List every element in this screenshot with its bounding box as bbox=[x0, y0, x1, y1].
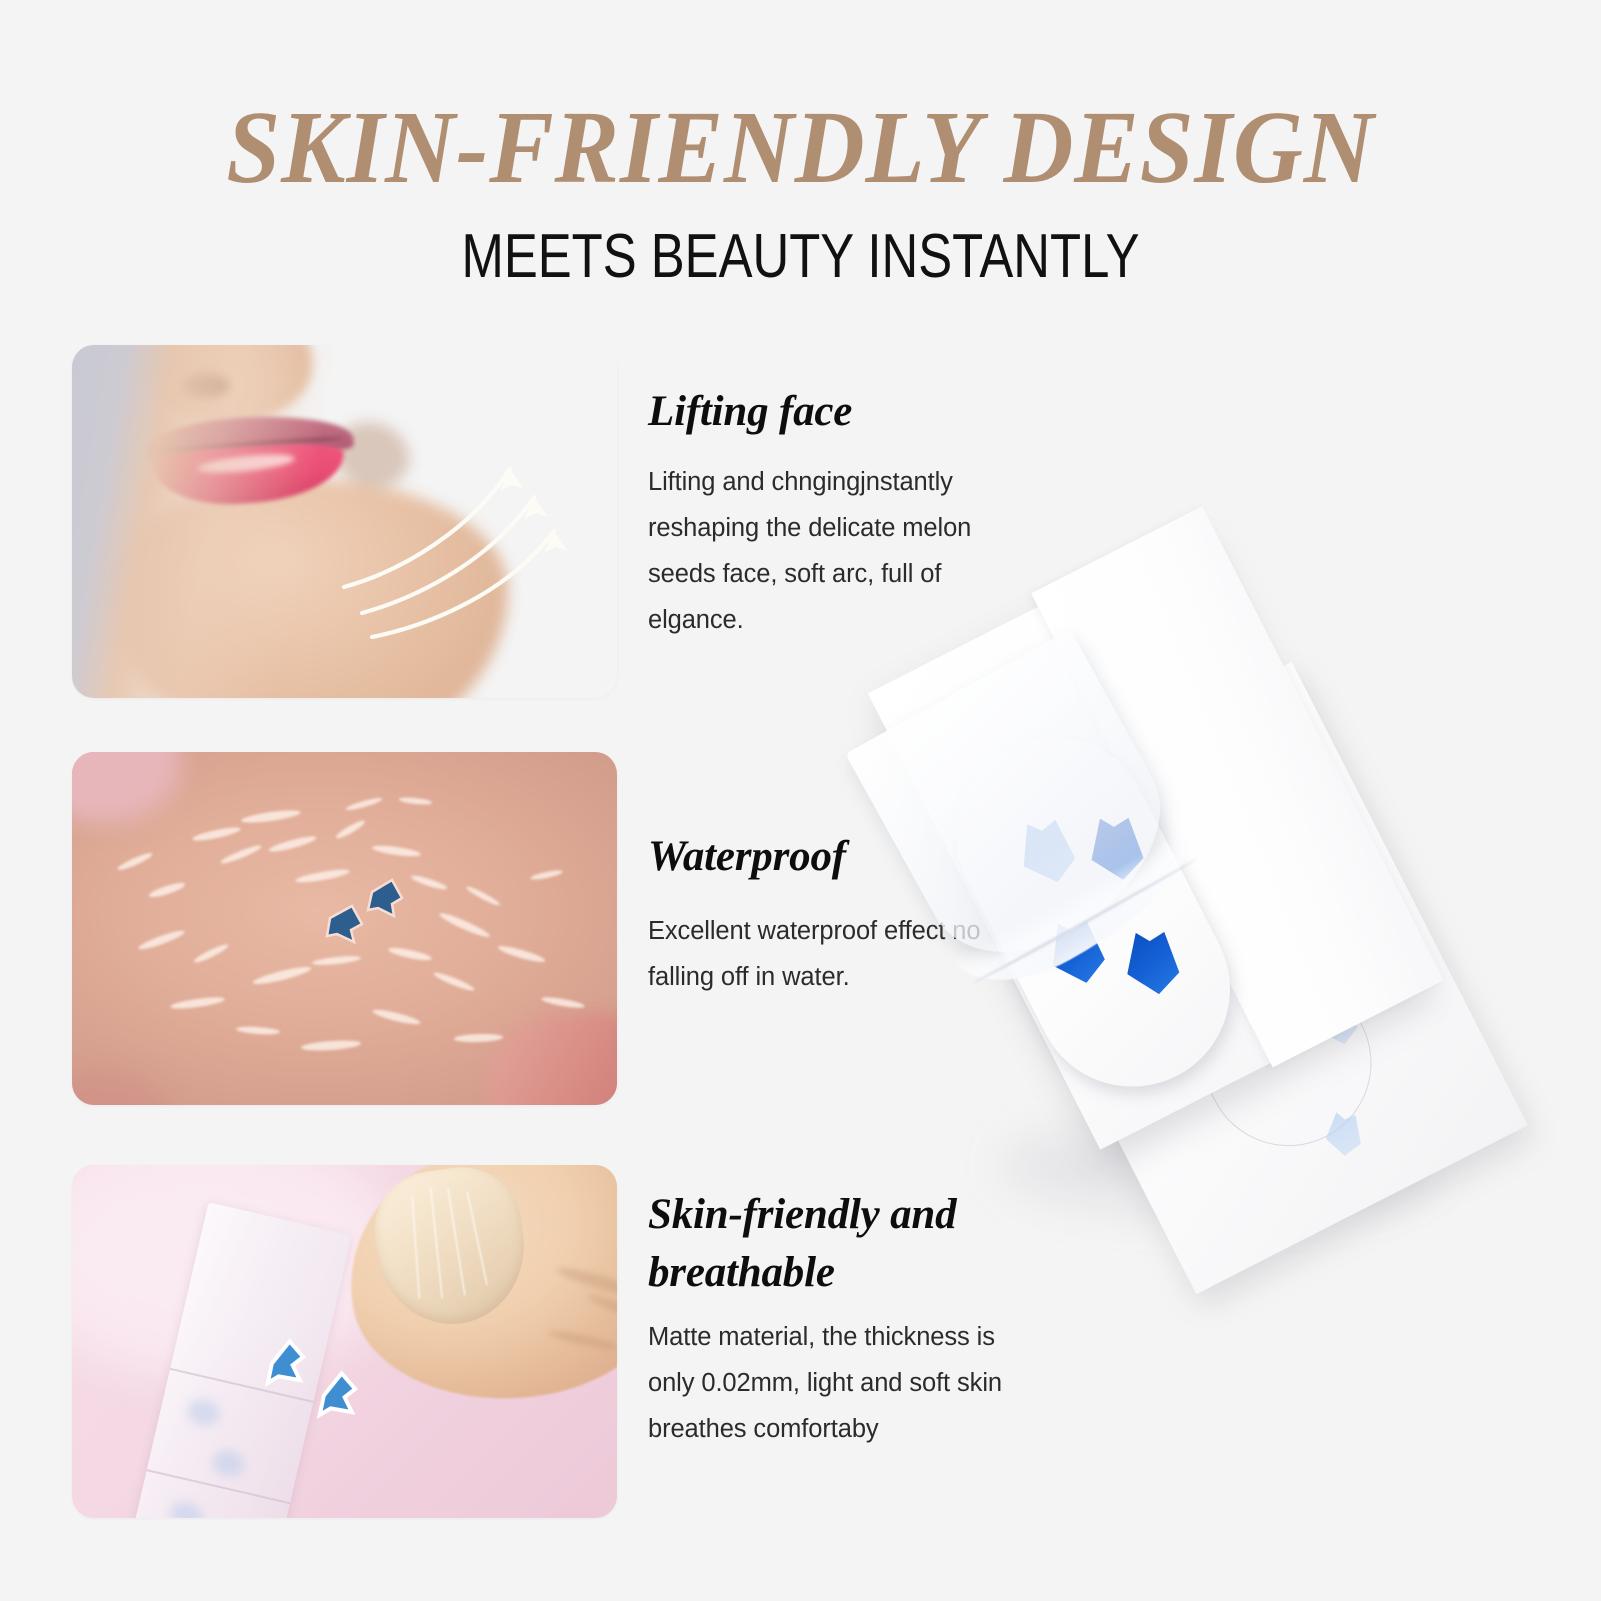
page-subtitle: MEETS BEAUTY INSTANTLY bbox=[144, 200, 1457, 288]
finger-strip-photo bbox=[72, 1165, 617, 1518]
page-title: SKIN-FRIENDLY DESIGN bbox=[56, 0, 1545, 200]
photo-card-skin-friendly bbox=[72, 1165, 617, 1518]
wet-skin-photo bbox=[72, 752, 617, 1105]
curved-up-arrow-icon bbox=[72, 345, 617, 698]
photo-card-lifting-face bbox=[72, 345, 617, 698]
header: SKIN-FRIENDLY DESIGN MEETS BEAUTY INSTAN… bbox=[0, 0, 1601, 288]
feature-heading-lifting: Lifting face bbox=[648, 383, 1008, 441]
liner-curl bbox=[953, 828, 1215, 1009]
blue-pentagon-arrow-icon bbox=[1126, 931, 1190, 995]
product-hero-image bbox=[940, 520, 1600, 1340]
photo-card-waterproof bbox=[72, 752, 617, 1105]
blue-pentagon-arrow-icon bbox=[72, 752, 617, 1105]
face-photo bbox=[72, 345, 617, 698]
